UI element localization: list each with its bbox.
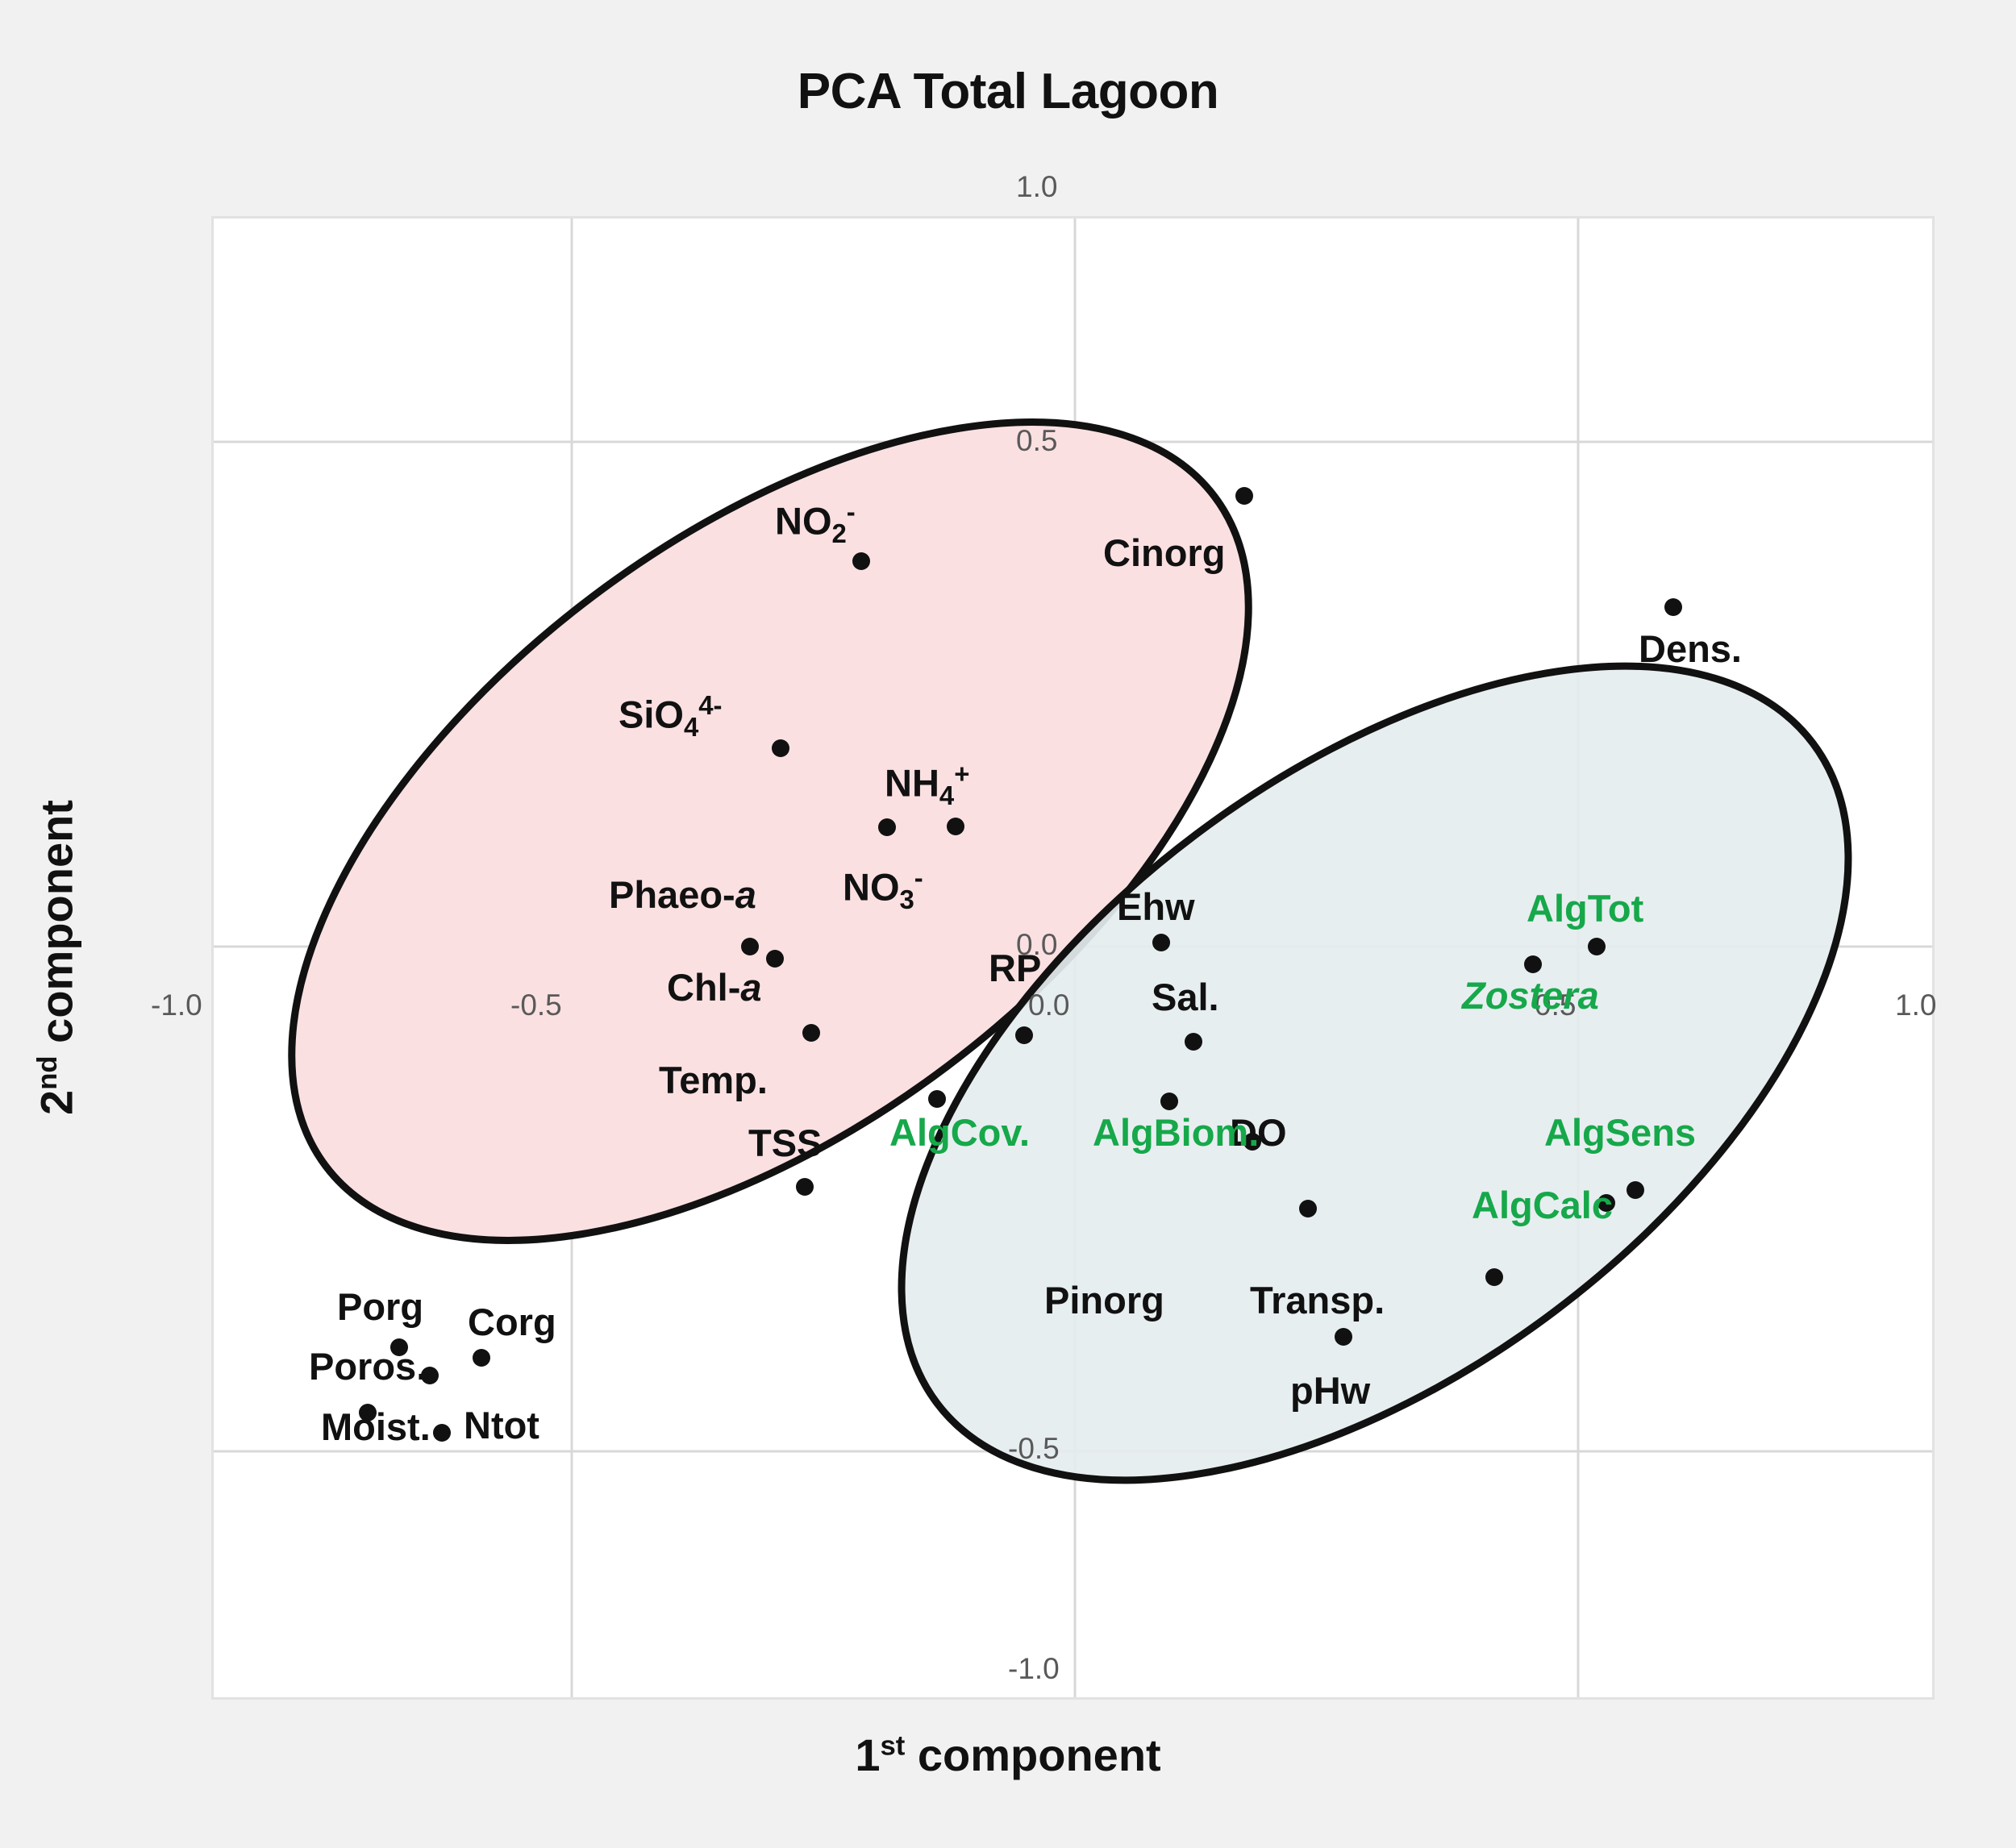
point-ntot[interactable]: [433, 1424, 451, 1442]
ytick--0.5: -0.5: [1008, 1432, 1060, 1466]
label-no3: NO3-: [843, 865, 923, 914]
label-no2: NO2-: [775, 499, 856, 547]
pca-chart: PCA Total Lagoon: [0, 0, 2016, 1848]
label-pinorg: Pinorg: [1044, 1281, 1164, 1319]
label-rp: RP: [989, 949, 1041, 987]
y-axis-title: 2nd component: [31, 676, 83, 1240]
label-poros: Poros.: [309, 1347, 427, 1385]
x-axis-title: 1st component: [0, 1729, 2016, 1781]
ytick-1.0: 1.0: [1016, 170, 1057, 204]
label-zostera: Zostera: [1462, 976, 1599, 1014]
chart-title: PCA Total Lagoon: [0, 63, 2016, 120]
point-no3[interactable]: [878, 818, 896, 836]
label-nh4: NH4+: [885, 761, 969, 810]
xtick--0.5: -0.5: [510, 989, 562, 1022]
point-no2[interactable]: [852, 552, 870, 570]
point-chl-a[interactable]: [766, 950, 784, 968]
point-cinorg[interactable]: [1235, 487, 1253, 505]
point-algcov[interactable]: [928, 1090, 946, 1108]
label-algbiom: AlgBiom.: [1093, 1113, 1259, 1151]
label-sal: Sal.: [1152, 978, 1219, 1016]
point-phw[interactable]: [1335, 1328, 1352, 1346]
point-do-2[interactable]: [1299, 1200, 1317, 1217]
point-nh4[interactable]: [947, 818, 964, 835]
label-moist: Moist.: [321, 1408, 431, 1446]
label-transp: Transp.: [1250, 1281, 1385, 1319]
point-rp[interactable]: [1015, 1026, 1033, 1044]
label-ehw: Ehw: [1117, 888, 1195, 926]
label-sio4: SiO44-: [619, 693, 723, 741]
label-ntot: Ntot: [464, 1406, 539, 1444]
label-algsens: AlgSens: [1544, 1113, 1696, 1151]
point-ehw[interactable]: [1152, 934, 1170, 951]
label-chl-a: Chl-a: [667, 968, 762, 1006]
plot-area: 1.0 0.5 0.0 -0.5 -1.0 -1.0 -0.5 0.0 0.5 …: [211, 216, 1935, 1700]
point-tss[interactable]: [796, 1178, 814, 1196]
point-temp[interactable]: [802, 1024, 820, 1042]
point-phaeo-a[interactable]: [741, 938, 759, 955]
xtick-1.0: 1.0: [1895, 989, 1936, 1022]
xtick--1.0: -1.0: [151, 989, 202, 1022]
label-cinorg: Cinorg: [1103, 534, 1225, 572]
label-corg: Corg: [468, 1303, 556, 1341]
label-phw: pHw: [1290, 1371, 1370, 1409]
point-dens[interactable]: [1664, 598, 1682, 616]
label-algcov: AlgCov.: [889, 1113, 1030, 1151]
label-tss: TSS: [748, 1124, 822, 1162]
point-sio4[interactable]: [772, 739, 789, 757]
point-algcalc[interactable]: [1485, 1268, 1503, 1286]
point-zostera[interactable]: [1524, 955, 1542, 973]
ytick--1.0: -1.0: [1008, 1652, 1060, 1686]
label-algcalc: AlgCalc: [1472, 1186, 1613, 1224]
label-phaeo-a: Phaeo-a: [609, 876, 756, 914]
label-dens: Dens.: [1639, 630, 1742, 668]
plot-canvas: [214, 219, 1932, 1697]
ytick-0.5: 0.5: [1016, 424, 1057, 458]
point-algtot[interactable]: [1588, 938, 1606, 955]
point-algbiom[interactable]: [1160, 1093, 1178, 1110]
label-porg: Porg: [337, 1288, 423, 1326]
xtick-0.0: 0.0: [1028, 989, 1069, 1022]
point-sal[interactable]: [1185, 1033, 1202, 1051]
point-corg[interactable]: [473, 1349, 490, 1367]
label-temp: Temp.: [659, 1061, 768, 1099]
label-algtot: AlgTot: [1527, 889, 1643, 927]
point-algsens-2[interactable]: [1627, 1181, 1644, 1199]
